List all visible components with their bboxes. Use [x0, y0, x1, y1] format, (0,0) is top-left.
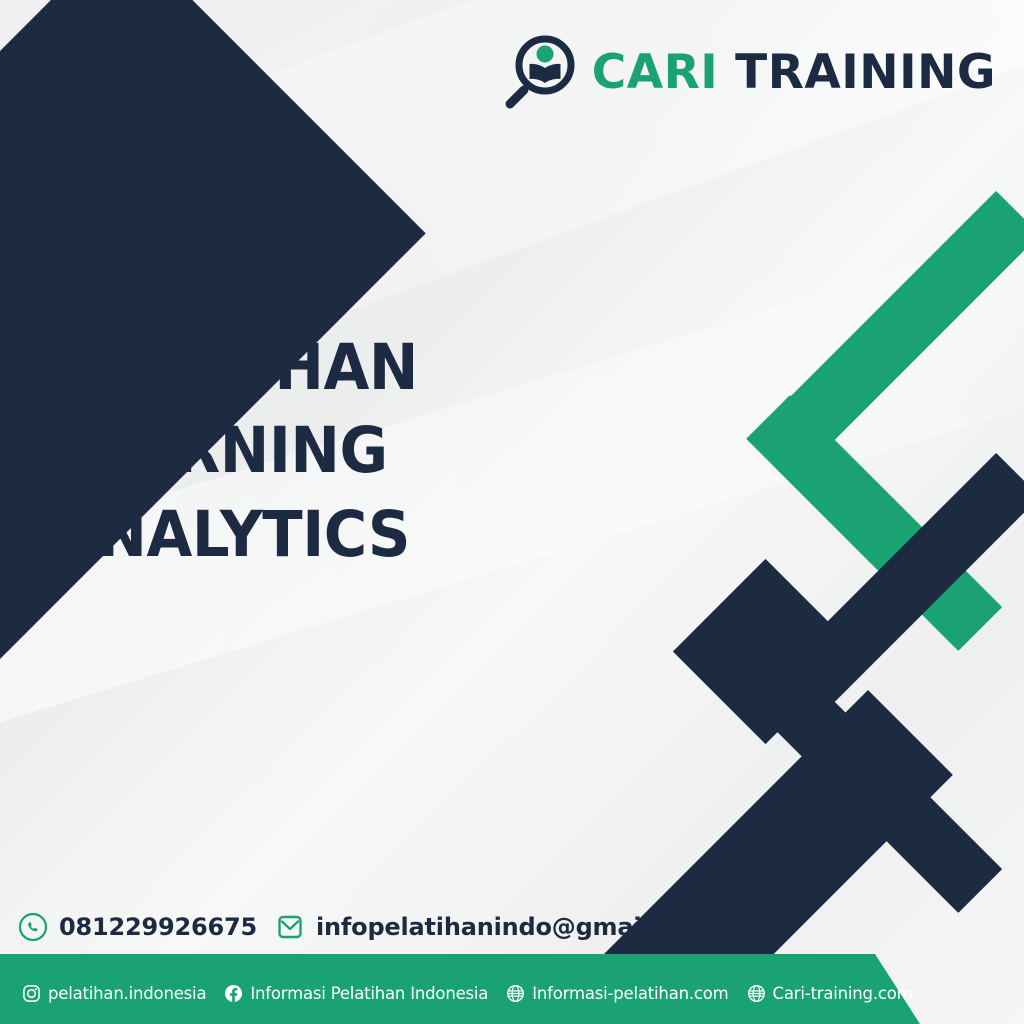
brand-name-first: CARI — [592, 45, 719, 100]
social-facebook[interactable]: Informasi Pelatihan Indonesia — [224, 984, 488, 1003]
poster-canvas: CARI TRAINING Pelatihan Learning Analyti… — [0, 0, 1024, 1024]
social-website-2-label: Cari-training.com — [773, 984, 913, 1003]
instagram-icon — [22, 984, 41, 1003]
contact-row: 081229926675 infopelatihanindo@gmail.com — [18, 912, 713, 942]
social-instagram[interactable]: pelatihan.indonesia — [22, 984, 206, 1003]
contact-email[interactable]: infopelatihanindo@gmail.com — [275, 912, 713, 942]
brand-wordmark: CARI TRAINING — [592, 49, 996, 96]
contact-phone-label: 081229926675 — [59, 913, 257, 941]
globe-icon — [506, 984, 525, 1003]
social-website-1-label: Informasi-pelatihan.com — [532, 984, 728, 1003]
social-instagram-label: pelatihan.indonesia — [48, 984, 206, 1003]
social-facebook-label: Informasi Pelatihan Indonesia — [250, 984, 488, 1003]
contact-email-label: infopelatihanindo@gmail.com — [316, 913, 713, 941]
brand-logo: CARI TRAINING — [504, 34, 996, 110]
social-website-2[interactable]: Cari-training.com — [747, 984, 913, 1003]
email-icon — [275, 912, 305, 942]
social-links-row: pelatihan.indonesia Informasi Pelatihan … — [22, 984, 922, 1003]
globe-icon — [747, 984, 766, 1003]
contact-phone[interactable]: 081229926675 — [18, 912, 257, 942]
whatsapp-icon — [18, 912, 48, 942]
page-title: Pelatihan Learning Analytics — [52, 326, 710, 575]
brand-name-second: TRAINING — [735, 45, 996, 100]
facebook-icon — [224, 984, 243, 1003]
magnifier-book-person-icon — [504, 34, 578, 110]
social-website-1[interactable]: Informasi-pelatihan.com — [506, 984, 728, 1003]
